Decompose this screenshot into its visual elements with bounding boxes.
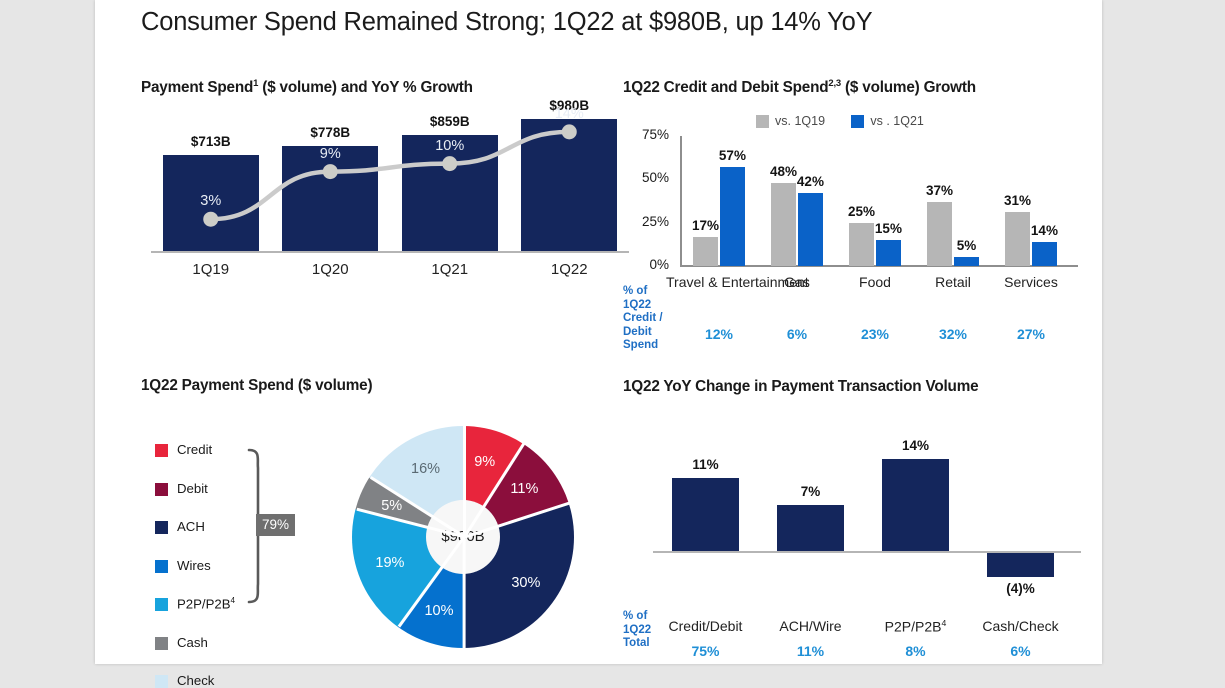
slice-label: 9% <box>474 454 495 470</box>
legend-swatch <box>155 483 168 496</box>
footer-value: 6% <box>956 643 1085 659</box>
bar <box>927 202 951 266</box>
legend-swatch <box>155 637 168 650</box>
x-axis-label: Services <box>978 274 1084 291</box>
legend-label: Cash <box>177 635 208 650</box>
footer-label: % of1Q22Credit /DebitSpend <box>623 285 663 353</box>
zero-baseline <box>653 551 1081 553</box>
legend-label: Wires <box>177 558 211 573</box>
plot-area <box>151 108 629 251</box>
plot-area <box>653 426 1073 606</box>
slice-label: 11% <box>510 481 538 497</box>
legend-label: ACH <box>177 519 205 534</box>
chart-title: Payment Spend1 ($ volume) and YoY % Grow… <box>141 78 473 97</box>
x-axis-line <box>151 251 629 253</box>
legend-label: P2P/P2B4 <box>177 596 235 611</box>
slide-page: Consumer Spend Remained Strong; 1Q22 at … <box>95 0 1102 664</box>
legend-label: Check <box>177 673 214 688</box>
bar <box>987 551 1053 577</box>
bar-value-label: 31% <box>998 193 1036 208</box>
bar <box>777 505 843 551</box>
footer-value: 27% <box>978 326 1084 342</box>
chart-title: 1Q22 Credit and Debit Spend2,3 ($ volume… <box>623 78 976 97</box>
x-axis-label: Cash/Check <box>956 618 1085 634</box>
legend-label: vs. 1Q19 <box>775 114 825 128</box>
line-value-label: 14% <box>521 106 617 122</box>
bar-value-label: 17% <box>686 218 724 233</box>
bar-value-label: 14% <box>870 438 960 453</box>
legend-swatch <box>155 444 168 457</box>
bar-value-label: 42% <box>791 174 829 189</box>
x-axis-label: 1Q19 <box>151 261 271 278</box>
bar-value-label: 15% <box>869 221 907 236</box>
bar-value-label: 5% <box>947 238 985 253</box>
slice-label: 30% <box>511 575 540 591</box>
y-axis-tick: 50% <box>623 170 669 185</box>
slice-label: 10% <box>424 603 453 619</box>
growth-line <box>151 108 629 251</box>
line-value-label: 10% <box>402 138 498 154</box>
bar <box>798 193 822 266</box>
bar-value-label: (4)% <box>975 581 1065 596</box>
bar-value-label: 37% <box>920 183 958 198</box>
chart-yoy-transaction-volume: 1Q22 YoY Change in Payment Transaction V… <box>623 408 1083 664</box>
bar-value-label: $713B <box>163 134 259 149</box>
legend-label: Credit <box>177 442 212 457</box>
slice-label: 5% <box>381 498 402 514</box>
bar <box>771 183 795 266</box>
bar <box>672 478 738 551</box>
bar <box>882 459 948 551</box>
slice-label: 16% <box>411 461 440 477</box>
bar-value-label: $859B <box>402 114 498 129</box>
y-axis-tick: 0% <box>623 257 669 272</box>
legend-label: vs . 1Q21 <box>870 114 924 128</box>
pie-chart: $980B <box>352 426 574 648</box>
x-axis-label: 1Q20 <box>271 261 391 278</box>
slice-separator <box>463 426 466 537</box>
legend-swatch <box>155 598 168 611</box>
chart-credit-debit-growth: 1Q22 Credit and Debit Spend2,3 ($ volume… <box>623 110 1083 320</box>
legend-swatch <box>155 675 168 688</box>
line-value-label: 3% <box>163 193 259 209</box>
bar <box>1032 242 1056 266</box>
bar-value-label: $778B <box>282 125 378 140</box>
bar <box>1005 212 1029 266</box>
chart-payment-spend-growth: Payment Spend1 ($ volume) and YoY % Grow… <box>141 108 641 308</box>
slice-label: 19% <box>375 555 404 571</box>
y-axis-tick: 75% <box>623 127 669 142</box>
legend-swatch <box>756 115 769 128</box>
y-axis-tick: 25% <box>623 214 669 229</box>
chart-payment-spend-mix: 1Q22 Payment Spend ($ volume) CreditDebi… <box>141 408 641 664</box>
bar-value-label: 25% <box>842 204 880 219</box>
bar-value-label: 14% <box>1025 223 1063 238</box>
bar-value-label: 11% <box>660 457 750 472</box>
bar <box>693 237 717 266</box>
legend-swatch <box>155 560 168 573</box>
bar-value-label: 57% <box>713 148 751 163</box>
legend-swatch <box>851 115 864 128</box>
x-axis-label: 1Q21 <box>390 261 510 278</box>
page-title: Consumer Spend Remained Strong; 1Q22 at … <box>141 8 1071 37</box>
legend-label: Debit <box>177 481 208 496</box>
line-value-label: 9% <box>282 146 378 162</box>
bar <box>954 257 978 266</box>
bar <box>876 240 900 266</box>
bar-value-label: 7% <box>765 484 855 499</box>
slice-separator <box>463 537 466 648</box>
chart-title: 1Q22 YoY Change in Payment Transaction V… <box>623 378 978 396</box>
bracket-value: 79% <box>256 514 295 536</box>
x-axis-label: 1Q22 <box>510 261 630 278</box>
legend-swatch <box>155 521 168 534</box>
chart-title: 1Q22 Payment Spend ($ volume) <box>141 377 372 395</box>
